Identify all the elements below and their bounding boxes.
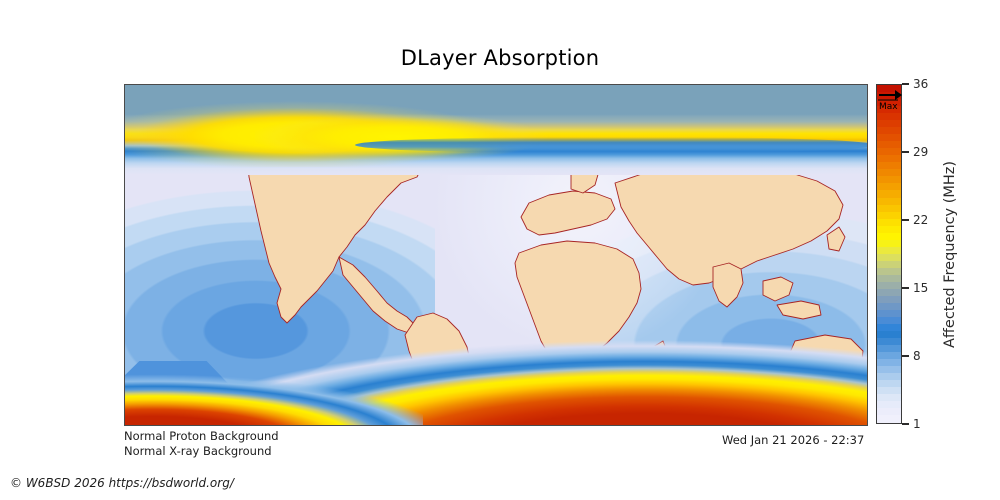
colorbar-segment — [877, 247, 901, 254]
colorbar-segment — [877, 359, 901, 366]
graticule-meridian — [495, 85, 496, 425]
colorbar-segment — [877, 352, 901, 359]
colorbar-tick-label: 15 — [913, 281, 928, 295]
colorbar-segment — [877, 162, 901, 169]
graticule-parallel — [125, 318, 867, 319]
colorbar-tick-mark — [902, 83, 909, 84]
chart-page: DLayer Absorption — [0, 0, 1000, 500]
colorbar-axis-label: Affected Frequency (MHz) — [938, 84, 962, 424]
colorbar-gradient — [876, 84, 902, 424]
colorbar-segment — [877, 155, 901, 162]
colorbar-segment — [877, 198, 901, 205]
colorbar-segment — [877, 183, 901, 190]
colorbar-segment — [877, 226, 901, 233]
graticule-parallel — [125, 404, 867, 405]
colorbar-segment — [877, 387, 901, 394]
colorbar-segment — [877, 415, 901, 422]
graticule-meridian — [589, 85, 590, 425]
background-conditions: Normal Proton Background Normal X-ray Ba… — [124, 429, 279, 459]
colorbar-segment — [877, 134, 901, 141]
colorbar[interactable] — [876, 84, 902, 424]
graticule-meridian — [403, 85, 404, 425]
colorbar-segment — [877, 254, 901, 261]
colorbar-tick-mark — [902, 219, 909, 220]
colorbar-segment — [877, 275, 901, 282]
colorbar-tick: 1 — [902, 417, 921, 431]
colorbar-tick-label: 8 — [913, 349, 921, 363]
colorbar-segment — [877, 289, 901, 296]
map-canvas — [125, 85, 867, 425]
colorbar-segment — [877, 345, 901, 352]
colorbar-segment — [877, 219, 901, 226]
colorbar-tick-label: 22 — [913, 213, 928, 227]
colorbar-segment — [877, 268, 901, 275]
colorbar-segment — [877, 205, 901, 212]
colorbar-segment — [877, 303, 901, 310]
page-title: DLayer Absorption — [0, 46, 1000, 70]
graticule-parallel — [125, 115, 867, 116]
colorbar-max-marker: Max — [877, 88, 903, 112]
colorbar-tick: 22 — [902, 213, 928, 227]
colorbar-segment — [877, 373, 901, 380]
colorbar-segment — [877, 394, 901, 401]
colorbar-tick-mark — [902, 287, 909, 288]
colorbar-tick: 29 — [902, 145, 928, 159]
graticule-parallel — [125, 265, 867, 266]
colorbar-max-label: Max — [879, 102, 898, 112]
absorption-map[interactable] — [124, 84, 868, 426]
colorbar-segment — [877, 113, 901, 120]
colorbar-segment — [877, 310, 901, 317]
colorbar-segment — [877, 212, 901, 219]
colorbar-segment — [877, 282, 901, 289]
copyright-footer: © W6BSD 2026 https://bsdworld.org/ — [10, 476, 234, 490]
colorbar-segment — [877, 401, 901, 408]
colorbar-segment — [877, 240, 901, 247]
colorbar-segment — [877, 176, 901, 183]
colorbar-segment — [877, 380, 901, 387]
proton-background-label: Normal Proton Background — [124, 429, 279, 444]
colorbar-segment — [877, 233, 901, 240]
colorbar-segment — [877, 296, 901, 303]
colorbar-tick-label: 1 — [913, 417, 921, 431]
colorbar-tick-mark — [902, 355, 909, 356]
colorbar-tick-mark — [902, 151, 909, 152]
colorbar-tick-label: 36 — [913, 77, 928, 91]
colorbar-tick-label: 29 — [913, 145, 928, 159]
colorbar-segment — [877, 317, 901, 324]
colorbar-segment — [877, 190, 901, 197]
colorbar-segment — [877, 324, 901, 331]
colorbar-segment — [877, 261, 901, 268]
colorbar-segment — [877, 338, 901, 345]
colorbar-tick: 15 — [902, 281, 928, 295]
colorbar-segment — [877, 169, 901, 176]
colorbar-segment — [877, 148, 901, 155]
xray-background-label: Normal X-ray Background — [124, 444, 279, 459]
timestamp-label: Wed Jan 21 2026 - 22:37 — [722, 433, 864, 447]
colorbar-segment — [877, 141, 901, 148]
colorbar-segment — [877, 366, 901, 373]
graticule-meridian — [682, 85, 683, 425]
colorbar-tick: 36 — [902, 77, 928, 91]
colorbar-tick: 8 — [902, 349, 921, 363]
colorbar-tick-mark — [902, 423, 909, 424]
graticule-parallel — [125, 215, 867, 216]
colorbar-segment — [877, 331, 901, 338]
colorbar-segment — [877, 127, 901, 134]
colorbar-segment — [877, 120, 901, 127]
colorbar-segment — [877, 408, 901, 415]
graticule-meridian — [312, 85, 313, 425]
graticule — [125, 85, 867, 425]
